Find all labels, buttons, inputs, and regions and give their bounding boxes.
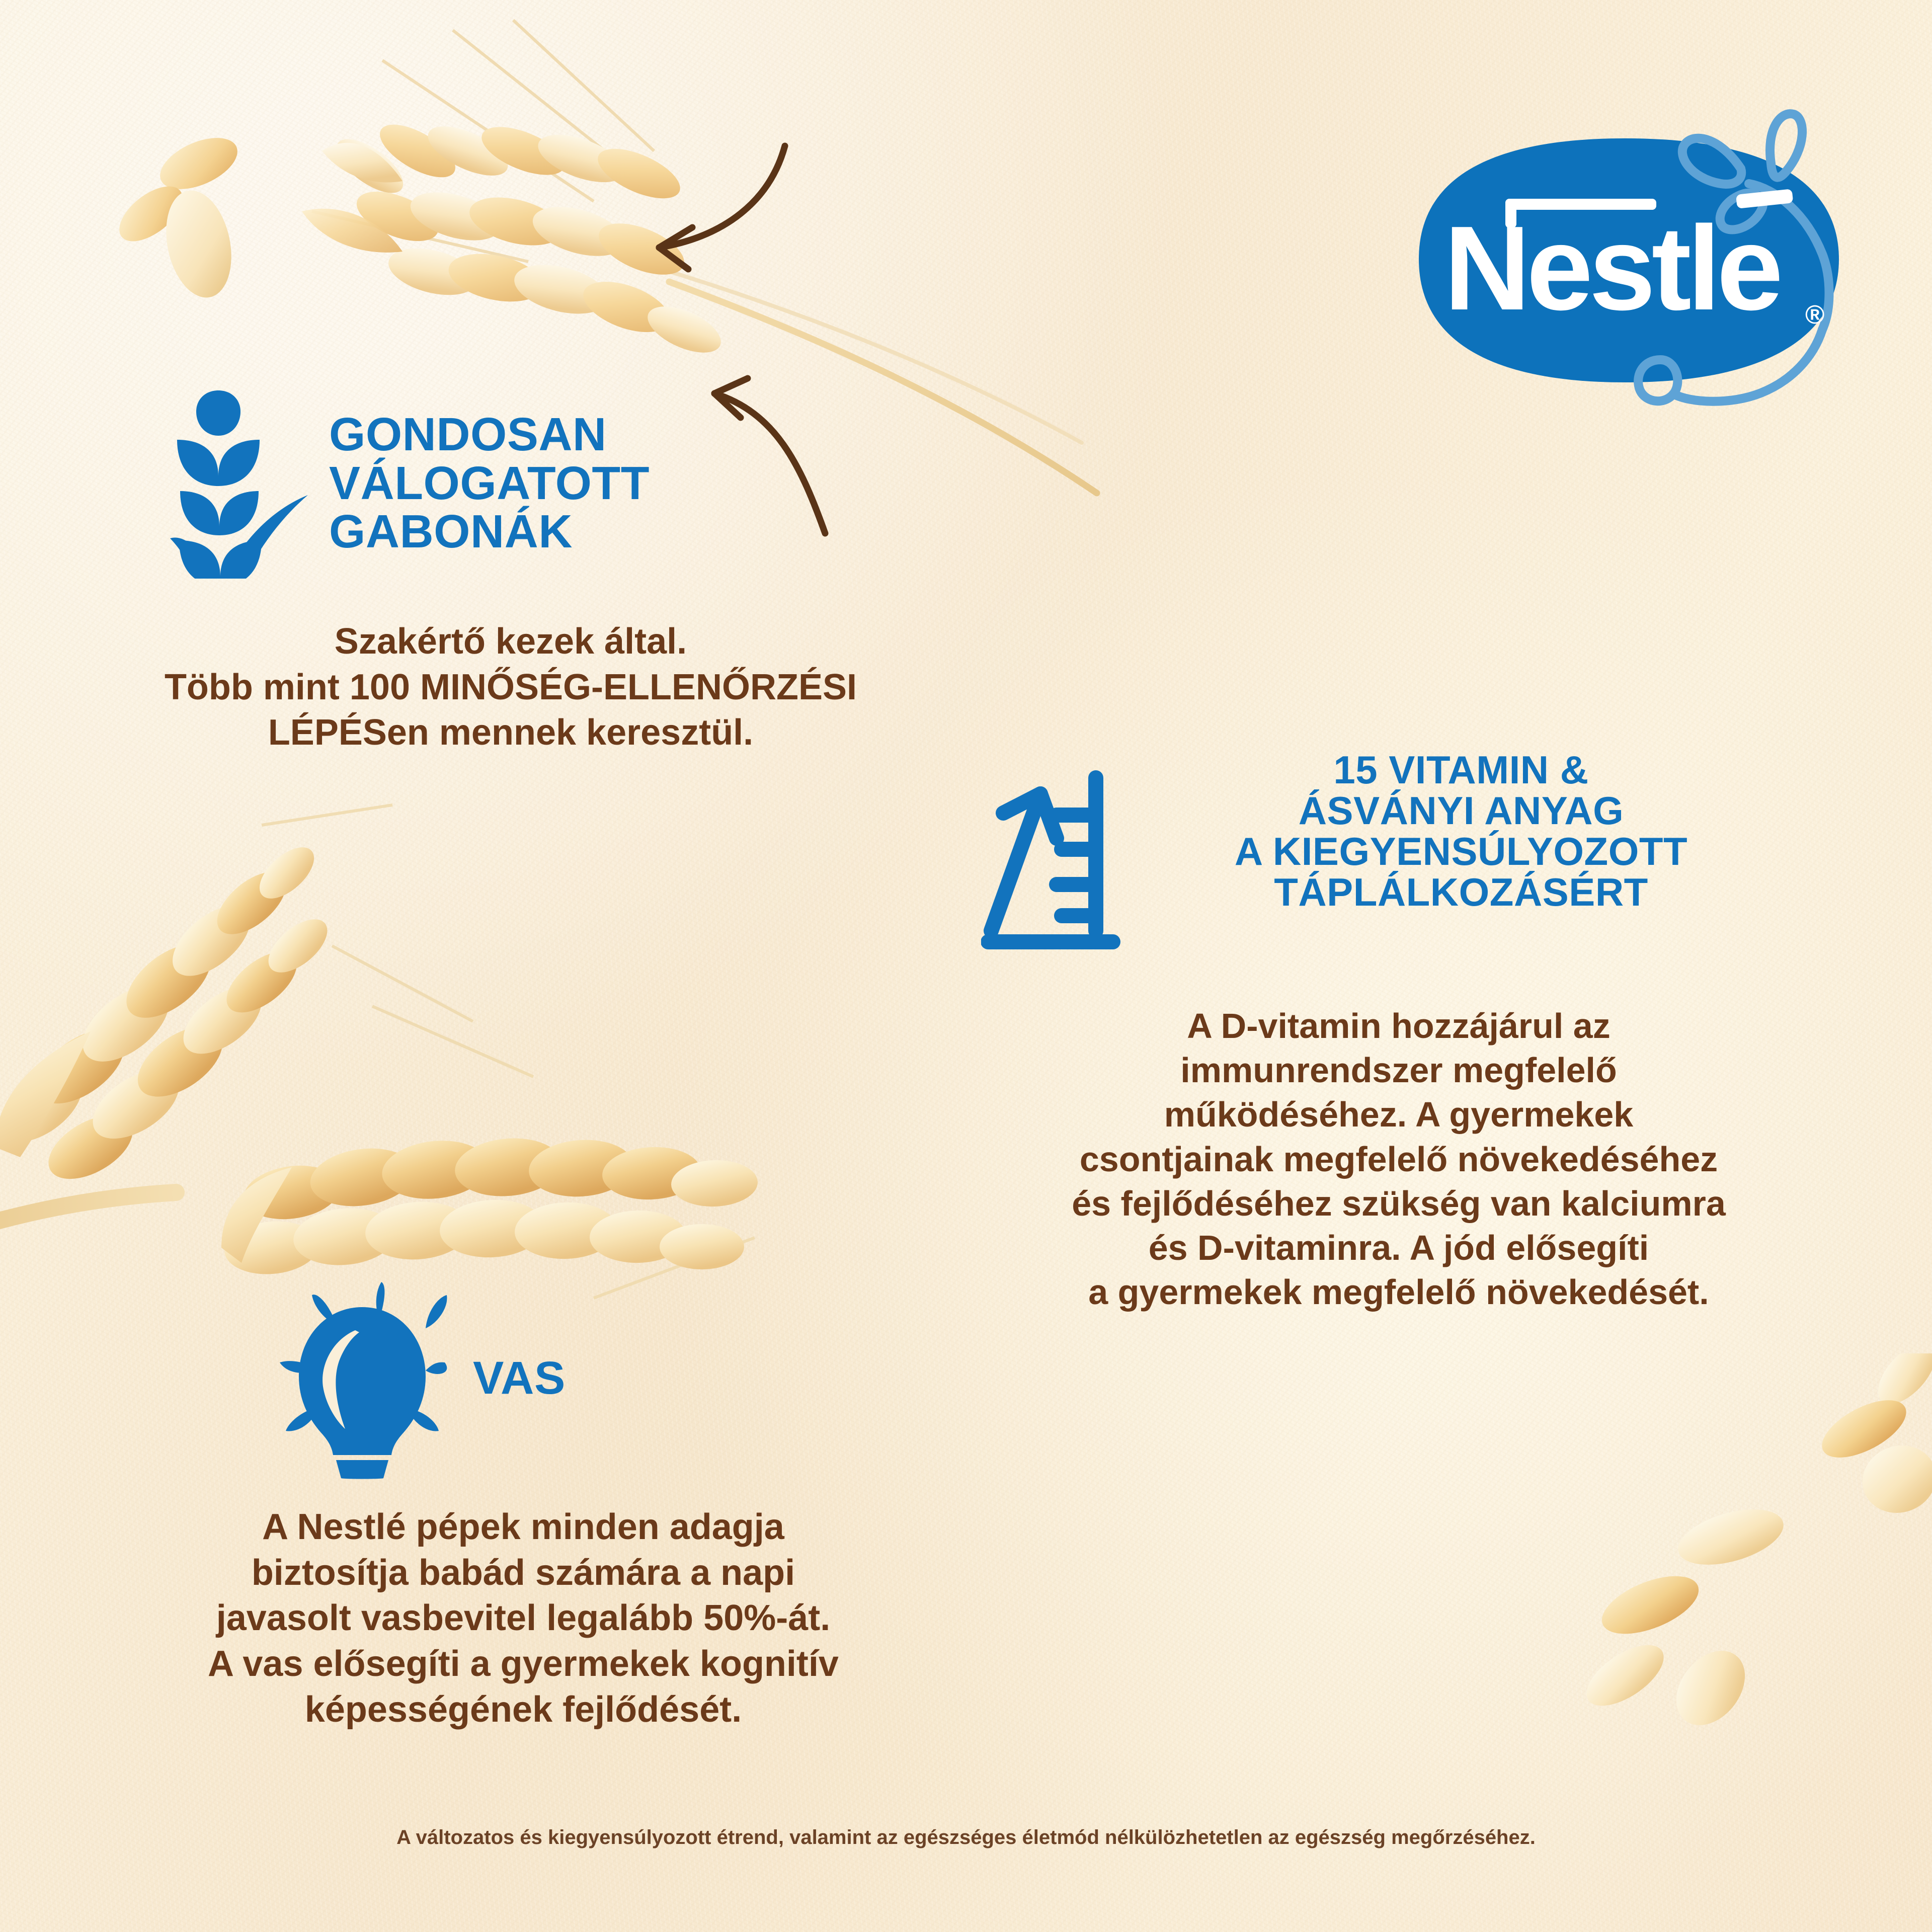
wheat-check-icon [166,387,317,579]
wheat-check-icon-svg [166,387,317,579]
loose-grains-bottom-right [1585,1353,1932,1806]
feature-gondosan-heading: GONDOSAN VÁLOGATOTT GABONÁK [329,410,650,556]
nestle-logo[interactable]: Nestle ® [1389,108,1872,415]
body-line: LÉPÉSen mennek keresztül. [75,710,946,756]
feature-vas-header: VAS [257,1278,709,1479]
loose-grains-svg [106,121,317,322]
body-line: Szakértő kezek által. [75,619,946,665]
heading-line: VÁLOGATOTT [329,459,650,508]
lightbulb-icon [257,1278,468,1479]
legal-footnote: A változatos és kiegyensúlyozott étrend,… [0,1826,1932,1849]
wheat-ears-left-svg [0,795,870,1328]
body-line: és fejlődéséhez szükség van kalciumra [971,1181,1826,1226]
growth-ruler-icon-svg [981,765,1122,956]
body-line: képességének fejlődését. [80,1687,966,1733]
body-line: csontjainak megfelelő növekedéséhez [971,1137,1826,1181]
growth-ruler-icon [981,765,1122,956]
heading-line: A KIEGYENSÚLYOZOTT [1134,831,1788,872]
heading-line: 15 VITAMIN & [1134,750,1788,790]
body-line: Több mint 100 MINŐSÉG-ELLENŐRZÉSI [75,665,946,710]
feature-vitamin-heading: 15 VITAMIN & ÁSVÁNYI ANYAG A KIEGYENSÚLY… [1134,750,1788,913]
feature-vitamin-body: A D-vitamin hozzájárul az immunrendszer … [971,1004,1826,1314]
lightbulb-icon-svg [257,1278,468,1479]
body-line: javasolt vasbevitel legalább 50%-át. [80,1595,966,1641]
callout-arrow-icon [659,146,785,269]
feature-vitamin-header: 15 VITAMIN & ÁSVÁNYI ANYAG A KIEGYENSÚLY… [981,750,1887,971]
body-line: biztosítja babád számára a napi [80,1550,966,1596]
body-line: A vas elősegíti a gyermekek kognitív [80,1641,966,1687]
heading-line: GABONÁK [329,507,650,556]
body-line: működéséhez. A gyermekek [971,1092,1826,1137]
body-line: a gyermekek megfelelő növekedését. [971,1270,1826,1314]
wheat-ears-middle-left-decoration [0,795,870,1328]
logo-registered-mark: ® [1805,300,1824,330]
body-line: immunrendszer megfelelő [971,1048,1826,1092]
feature-vas-body: A Nestlé pépek minden adagja biztosítja … [80,1504,966,1733]
poster-canvas: Nestle ® [0,0,1932,1932]
feature-gondosan-header: GONDOSAN VÁLOGATOTT GABONÁK [166,382,770,584]
feature-gondosan-body: Szakértő kezek által. Több mint 100 MINŐ… [75,619,946,756]
loose-grains-top-left [106,121,317,322]
heading-line: GONDOSAN [329,410,650,459]
loose-grains-br-svg [1585,1353,1932,1806]
body-line: A D-vitamin hozzájárul az [971,1004,1826,1048]
body-line: A Nestlé pépek minden adagja [80,1504,966,1550]
heading-line: VAS [473,1354,566,1403]
feature-vas-heading: VAS [473,1354,566,1403]
logo-wordmark: Nestle [1444,202,1780,335]
heading-line: ÁSVÁNYI ANYAG [1134,790,1788,831]
nestle-logo-svg: Nestle ® [1389,108,1872,415]
heading-line: TÁPLÁLKOZÁSÉRT [1134,872,1788,913]
body-line: és D-vitaminra. A jód elősegíti [971,1226,1826,1270]
